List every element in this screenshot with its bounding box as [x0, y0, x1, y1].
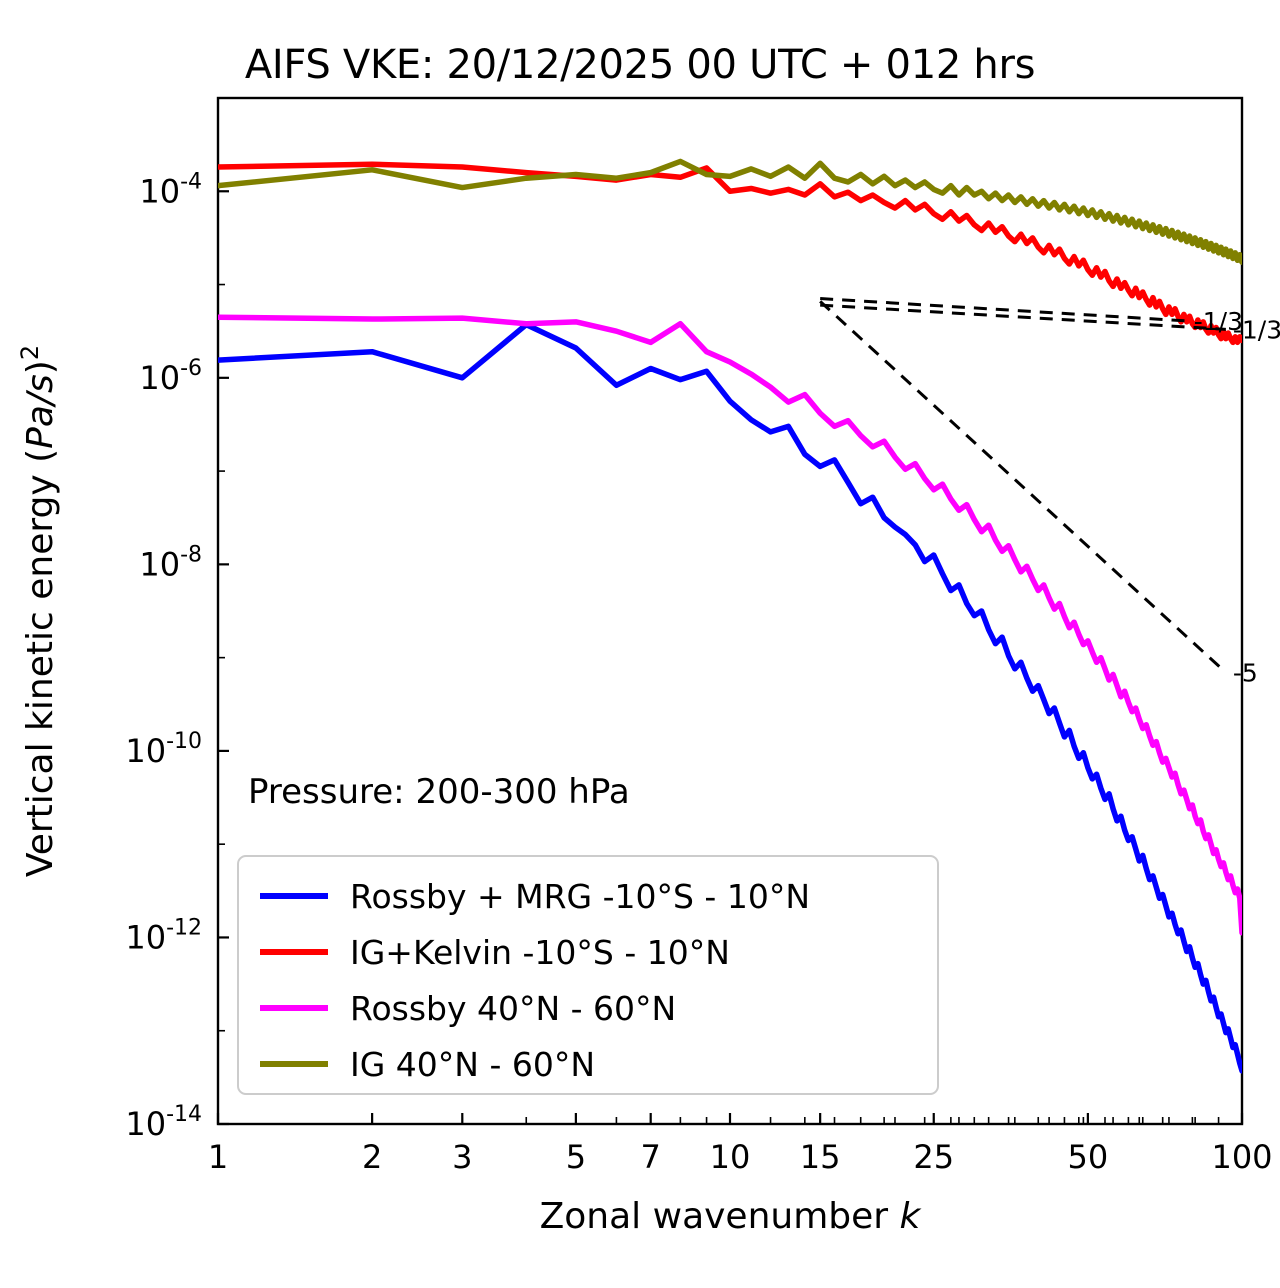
- series-line: [218, 161, 1242, 262]
- legend-item-label[interactable]: IG 40°N - 60°N: [350, 1045, 595, 1084]
- x-tick-label: 1: [208, 1138, 228, 1176]
- pressure-annotation: Pressure: 200-300 hPa: [248, 772, 630, 812]
- y-tick-label: 10-6: [139, 356, 202, 397]
- x-tick-label: 50: [1068, 1138, 1109, 1176]
- x-tick-label: 7: [641, 1138, 661, 1176]
- y-tick-label: 10-14: [125, 1102, 202, 1143]
- x-tick-label: 5: [566, 1138, 586, 1176]
- chart-legend[interactable]: Rossby + MRG -10°S - 10°NIG+Kelvin -10°S…: [238, 856, 938, 1094]
- slope-label: -5: [1233, 659, 1258, 688]
- y-tick-label: 10-4: [139, 169, 202, 210]
- x-tick-label: 3: [452, 1138, 472, 1176]
- chart-plot-area: 123571015255010010-410-610-810-1010-1210…: [0, 0, 1280, 1288]
- y-axis-label: Vertical kinetic energy (Pa/s)2: [16, 345, 61, 877]
- slope-label: -1/3: [1233, 315, 1280, 344]
- x-tick-label: 15: [800, 1138, 841, 1176]
- slope-reference-line: [820, 301, 1226, 672]
- x-axis-label: Zonal wavenumber k: [540, 1196, 923, 1237]
- slope-reference-lines: -1/3-1/3-5: [820, 299, 1280, 688]
- plot-annotations: Pressure: 200-300 hPa: [248, 772, 630, 812]
- y-tick-label: 10-10: [125, 729, 202, 770]
- figure-canvas: AIFS VKE: 20/12/2025 00 UTC + 012 hrs 12…: [0, 0, 1280, 1288]
- y-tick-label: 10-8: [139, 542, 202, 583]
- x-tick-label: 25: [913, 1138, 954, 1176]
- x-tick-label: 2: [362, 1138, 382, 1176]
- legend-item-label[interactable]: Rossby 40°N - 60°N: [350, 989, 676, 1028]
- series-line: [218, 317, 1242, 933]
- y-tick-label: 10-12: [125, 915, 202, 956]
- legend-item-label[interactable]: IG+Kelvin -10°S - 10°N: [350, 933, 730, 972]
- legend-item-label[interactable]: Rossby + MRG -10°S - 10°N: [350, 877, 810, 916]
- x-tick-label: 100: [1211, 1138, 1272, 1176]
- x-tick-label: 10: [710, 1138, 751, 1176]
